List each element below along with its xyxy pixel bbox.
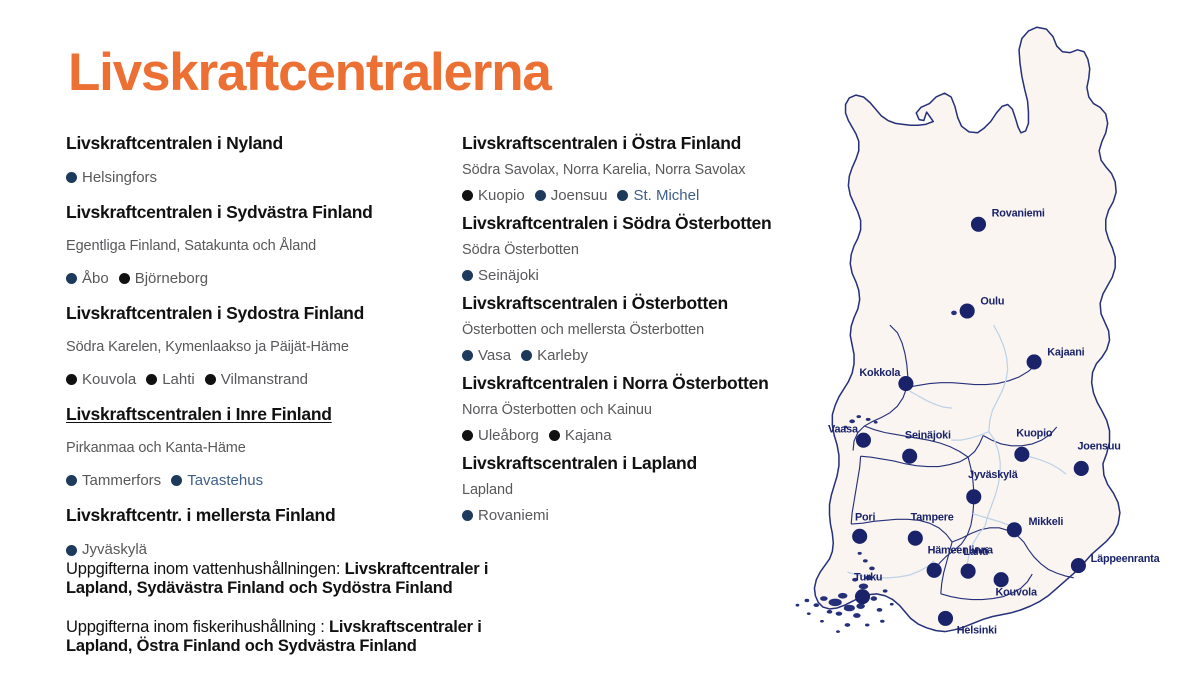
group-heading: Livskraftcentralen i Sydostra Finland — [66, 304, 466, 324]
page-title: Livskraftcentralerna — [68, 46, 551, 99]
center-group-livskraftcentralen-i-sydvastra-finland: Livskraftcentralen i Sydvästra FinlandEg… — [66, 203, 466, 287]
city-label: Åbo — [82, 271, 109, 288]
map-city-dot-icon — [908, 531, 923, 546]
map-city-label: Tampere — [911, 511, 954, 523]
note-separator: : — [316, 618, 329, 636]
city-item-uleaborg[interactable]: Uleåborg — [462, 428, 539, 445]
center-group-livskraftcentralen-i-nyland: Livskraftcentralen i NylandHelsingfors — [66, 134, 466, 186]
city-item-lahti[interactable]: Lahti — [146, 372, 195, 389]
group-city-list: ÅboBjörneborg — [66, 271, 466, 288]
bullet-dot-icon — [462, 510, 473, 521]
map-city-label: Turku — [854, 572, 882, 584]
note-strong-line2: Lapland, Östra Finland och Sydvästra Fin… — [66, 637, 417, 655]
bullet-dot-icon — [146, 374, 157, 385]
map-city-dot-icon — [971, 217, 986, 232]
map-city-label: Helsinki — [957, 624, 997, 636]
city-label: Vilmanstrand — [221, 372, 308, 389]
city-label: Joensuu — [551, 188, 608, 205]
city-item-vilmanstrand[interactable]: Vilmanstrand — [205, 372, 308, 389]
map-city-label: Kokkola — [859, 367, 901, 379]
map-city-label: Vaasa — [828, 424, 859, 436]
map-city-dot-icon — [1014, 447, 1029, 462]
map-city-dot-icon — [855, 589, 870, 604]
map-city-label: Rovaniemi — [992, 208, 1045, 220]
city-item-bjorneborg[interactable]: Björneborg — [119, 271, 208, 288]
finland-map: RovaniemiOuluKajaaniKokkolaVaasaSeinäjok… — [735, 14, 1200, 674]
city-item-karleby[interactable]: Karleby — [521, 348, 588, 365]
city-label: Björneborg — [135, 271, 208, 288]
city-item-st-michel[interactable]: St. Michel — [617, 188, 699, 205]
map-city-label: Oulu — [980, 295, 1004, 307]
bullet-dot-icon — [462, 350, 473, 361]
map-city-dot-icon — [1074, 461, 1089, 476]
infographic-page: Livskraftcentralerna Livskraftcentralen … — [0, 0, 1200, 675]
city-item-seinajoki[interactable]: Seinäjoki — [462, 268, 539, 285]
note-lead: Uppgifterna inom fiskerihushållning — [66, 618, 316, 636]
map-city-label: Lahti — [963, 546, 988, 558]
group-heading: Livskraftcentralen i Nyland — [66, 134, 466, 154]
footer-note-2: Uppgifterna inom fiskerihushållning : Li… — [66, 618, 726, 656]
city-label: Vasa — [478, 348, 511, 365]
map-city-dot-icon — [1007, 522, 1022, 537]
map-city-dot-icon — [994, 572, 1009, 587]
city-label: Tavastehus — [187, 473, 263, 490]
bullet-dot-icon — [66, 545, 77, 556]
city-item-vasa[interactable]: Vasa — [462, 348, 511, 365]
city-label: Seinäjoki — [478, 268, 539, 285]
map-city-dot-icon — [856, 433, 871, 448]
bullet-dot-icon — [462, 190, 473, 201]
city-label: Helsingfors — [82, 170, 157, 187]
city-label: Jyväskylä — [82, 542, 147, 559]
map-city-label: Joensuu — [1077, 441, 1120, 453]
map-city-label: Läppeenranta — [1091, 553, 1161, 565]
map-city-label: Jyväskylä — [968, 469, 1019, 481]
city-label: Tammerfors — [82, 473, 161, 490]
group-heading: Livskraftcentralen i Sydvästra Finland — [66, 203, 466, 223]
note-strong-line2: Lapland, Sydävästra Finland och Sydöstra… — [66, 579, 452, 597]
group-subtitle: Södra Karelen, Kymenlaakso ja Päijät-Häm… — [66, 340, 466, 356]
bullet-dot-icon — [521, 350, 532, 361]
bullet-dot-icon — [462, 430, 473, 441]
city-label: Karleby — [537, 348, 588, 365]
bullet-dot-icon — [119, 273, 130, 284]
map-city-dot-icon — [852, 529, 867, 544]
map-city-label: Kajaani — [1047, 346, 1084, 358]
note-separator: : — [336, 560, 345, 578]
finland-map-svg: RovaniemiOuluKajaaniKokkolaVaasaSeinäjok… — [735, 14, 1200, 674]
map-city-dot-icon — [960, 303, 975, 318]
map-city-label: Kuopio — [1016, 427, 1053, 439]
center-group-livskraftscentralen-i-inre-finland: Livskraftscentralen i Inre FinlandPirkan… — [66, 405, 466, 489]
note-strong-line1: Livskraftscentraler i — [329, 618, 482, 636]
group-city-list: KouvolaLahtiVilmanstrand — [66, 372, 466, 389]
left-column: Livskraftcentralen i NylandHelsingforsLi… — [66, 134, 466, 558]
footer-notes: Uppgifterna inom vattenhushållningen: Li… — [66, 560, 726, 657]
bullet-dot-icon — [66, 172, 77, 183]
city-item-helsingfors[interactable]: Helsingfors — [66, 170, 157, 187]
map-city-dot-icon — [898, 376, 913, 391]
map-city-dot-icon — [938, 611, 953, 626]
city-label: St. Michel — [633, 188, 699, 205]
city-label: Rovaniemi — [478, 508, 549, 525]
footer-note-1: Uppgifterna inom vattenhushållningen: Li… — [66, 560, 726, 598]
group-subtitle: Egentliga Finland, Satakunta och Åland — [66, 239, 466, 255]
map-city-dot-icon — [902, 449, 917, 464]
city-item-jyvaskyla[interactable]: Jyväskylä — [66, 542, 147, 559]
group-city-list: Helsingfors — [66, 170, 466, 187]
bullet-dot-icon — [66, 475, 77, 486]
group-subtitle: Pirkanmaa och Kanta-Häme — [66, 441, 466, 457]
group-city-list: TammerforsTavastehus — [66, 473, 466, 490]
center-group-livskraftcentr-i-mellersta-finland: Livskraftcentr. i mellersta FinlandJyväs… — [66, 506, 466, 558]
map-city-label: Seinäjoki — [905, 429, 951, 441]
city-item-tavastehus[interactable]: Tavastehus — [171, 473, 263, 490]
bullet-dot-icon — [66, 273, 77, 284]
city-label: Lahti — [162, 372, 195, 389]
center-group-livskraftcentralen-i-sydostra-finland: Livskraftcentralen i Sydostra FinlandSöd… — [66, 304, 466, 388]
city-item-tammerfors[interactable]: Tammerfors — [66, 473, 161, 490]
city-item-kouvola[interactable]: Kouvola — [66, 372, 136, 389]
group-city-list: Jyväskylä — [66, 542, 466, 559]
bullet-dot-icon — [171, 475, 182, 486]
note-lead: Uppgifterna inom vattenhushållningen — [66, 560, 336, 578]
city-label: Kouvola — [82, 372, 136, 389]
city-label: Kuopio — [478, 188, 525, 205]
bullet-dot-icon — [66, 374, 77, 385]
map-city-dot-icon — [1071, 558, 1086, 573]
map-city-dot-icon — [1027, 354, 1042, 369]
map-city-dot-icon — [961, 564, 976, 579]
group-heading: Livskraftscentralen i Inre Finland — [66, 405, 466, 425]
map-city-dot-icon — [927, 563, 942, 578]
map-city-label: Kouvola — [995, 587, 1038, 599]
note-strong-line1: Livskraftcentraler i — [345, 560, 489, 578]
city-item-kuopio[interactable]: Kuopio — [462, 188, 525, 205]
group-heading: Livskraftcentr. i mellersta Finland — [66, 506, 466, 526]
city-label: Kajana — [565, 428, 612, 445]
bullet-dot-icon — [205, 374, 216, 385]
bullet-dot-icon — [617, 190, 628, 201]
bullet-dot-icon — [549, 430, 560, 441]
map-city-label: Mikkeli — [1028, 516, 1063, 528]
city-item-abo[interactable]: Åbo — [66, 271, 109, 288]
map-city-dot-icon — [966, 489, 981, 504]
city-item-joensuu[interactable]: Joensuu — [535, 188, 608, 205]
bullet-dot-icon — [535, 190, 546, 201]
bullet-dot-icon — [462, 270, 473, 281]
city-label: Uleåborg — [478, 428, 539, 445]
city-item-kajana[interactable]: Kajana — [549, 428, 612, 445]
city-item-rovaniemi[interactable]: Rovaniemi — [462, 508, 549, 525]
map-city-label: Pori — [855, 511, 875, 523]
